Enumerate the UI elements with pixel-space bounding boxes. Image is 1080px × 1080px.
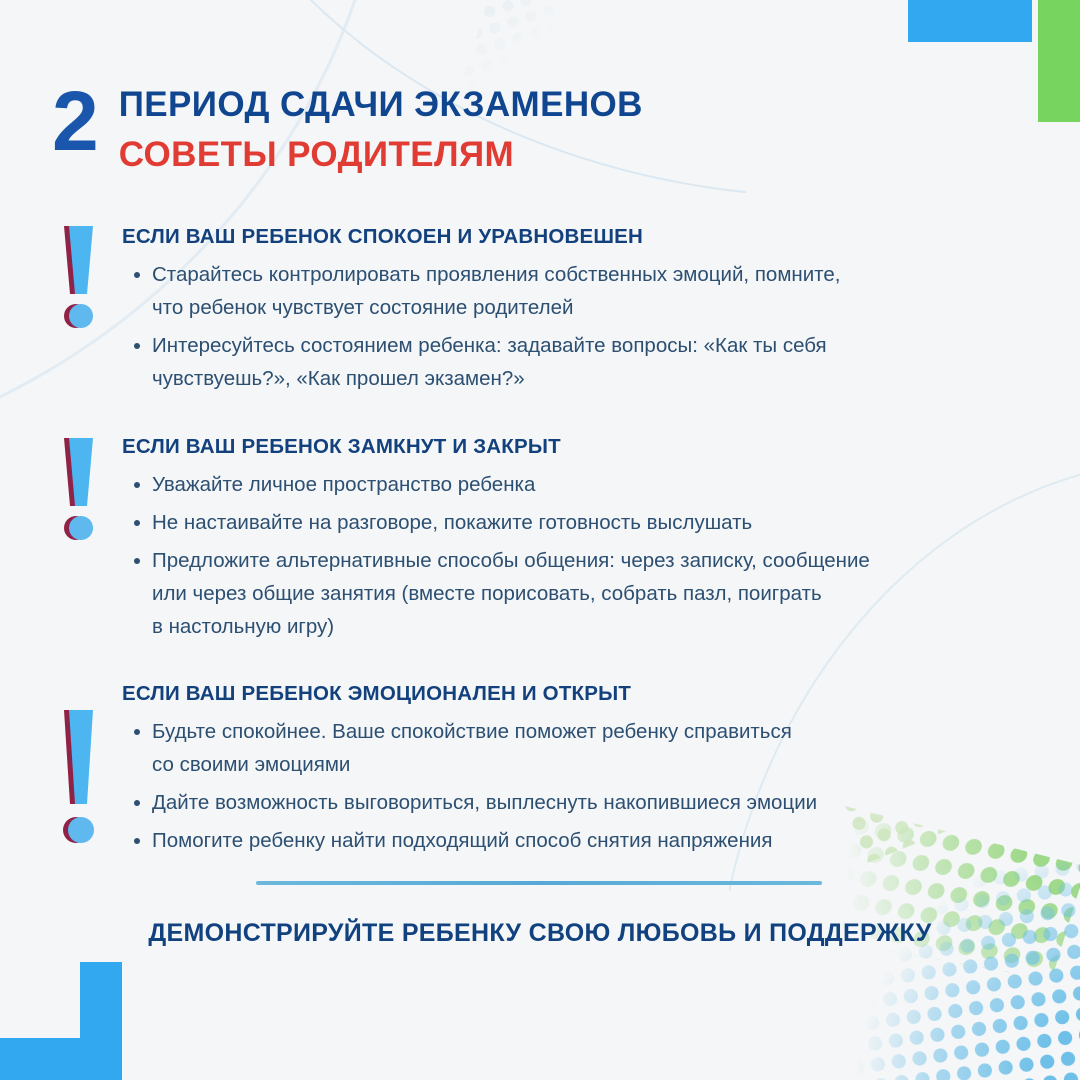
exclamation-mark-icon [58,434,106,542]
list-item: Не настаивайте на разговоре, покажите го… [122,506,1042,539]
advice-list: Будьте спокойнее. Ваше спокойствие помож… [122,715,1042,857]
list-item: Дайте возможность выговориться, выплесну… [122,786,1042,819]
bullet-line: Помогите ребенку найти подходящий способ… [152,824,1042,857]
list-item: Помогите ребенку найти подходящий способ… [122,824,1042,857]
advice-section-withdrawn: ЕСЛИ ВАШ РЕБЕНОК ЗАМКНУТ И ЗАКРЫТ Уважай… [122,434,1042,648]
list-item: Предложите альтернативные способы общени… [122,544,1042,643]
advice-section-calm: ЕСЛИ ВАШ РЕБЕНОК СПОКОЕН И УРАВНОВЕШЕН С… [122,224,1042,400]
list-item: Будьте спокойнее. Ваше спокойствие помож… [122,715,1042,781]
list-item: Старайтесь контролировать проявления соб… [122,258,1042,324]
page-subtitle: СОВЕТЫ РОДИТЕЛЯМ [119,133,643,177]
bullet-line: в настольную игру) [152,610,1042,643]
bullet-line: Будьте спокойнее. Ваше спокойствие помож… [152,715,1042,748]
section-heading: ЕСЛИ ВАШ РЕБЕНОК СПОКОЕН И УРАВНОВЕШЕН [122,224,1042,250]
bullet-line: со своими эмоциями [152,748,1042,781]
advice-list: Старайтесь контролировать проявления соб… [122,258,1042,395]
page-title: ПЕРИОД СДАЧИ ЭКЗАМЕНОВ [119,84,643,126]
bullet-line: Уважайте личное пространство ребенка [152,468,1042,501]
poster-header: 2 ПЕРИОД СДАЧИ ЭКЗАМЕНОВ СОВЕТЫ РОДИТЕЛЯ… [52,78,643,177]
advice-section-emotional: ЕСЛИ ВАШ РЕБЕНОК ЭМОЦИОНАЛЕН И ОТКРЫТ Бу… [122,681,1042,862]
step-number: 2 [52,78,97,164]
list-item: Интересуйтесь состоянием ребенка: задава… [122,329,1042,395]
bullet-line: чувствуешь?», «Как прошел экзамен?» [152,362,1042,395]
header-titles: ПЕРИОД СДАЧИ ЭКЗАМЕНОВ СОВЕТЫ РОДИТЕЛЯМ [119,78,643,177]
bullet-line: Дайте возможность выговориться, выплесну… [152,786,1042,819]
exclamation-mark-icon [58,706,106,848]
section-heading: ЕСЛИ ВАШ РЕБЕНОК ЗАМКНУТ И ЗАКРЫТ [122,434,1042,460]
bullet-line: Не настаивайте на разговоре, покажите го… [152,506,1042,539]
exclamation-mark-icon [58,222,106,330]
section-heading: ЕСЛИ ВАШ РЕБЕНОК ЭМОЦИОНАЛЕН И ОТКРЫТ [122,681,1042,707]
bullet-line: Предложите альтернативные способы общени… [152,544,1042,577]
list-item: Уважайте личное пространство ребенка [122,468,1042,501]
advice-list: Уважайте личное пространство ребенка Не … [122,468,1042,643]
bullet-line: Интересуйтесь состоянием ребенка: задава… [152,329,1042,362]
footer-message: ДЕМОНСТРИРУЙТЕ РЕБЕНКУ СВОЮ ЛЮБОВЬ И ПОД… [0,919,1080,948]
footer-divider [256,881,822,885]
bullet-line: или через общие занятия (вместе порисова… [152,577,1042,610]
poster-canvas: 2 ПЕРИОД СДАЧИ ЭКЗАМЕНОВ СОВЕТЫ РОДИТЕЛЯ… [0,0,1080,1080]
bullet-line: Старайтесь контролировать проявления соб… [152,258,1042,291]
bullet-line: что ребенок чувствует состояние родителе… [152,291,1042,324]
